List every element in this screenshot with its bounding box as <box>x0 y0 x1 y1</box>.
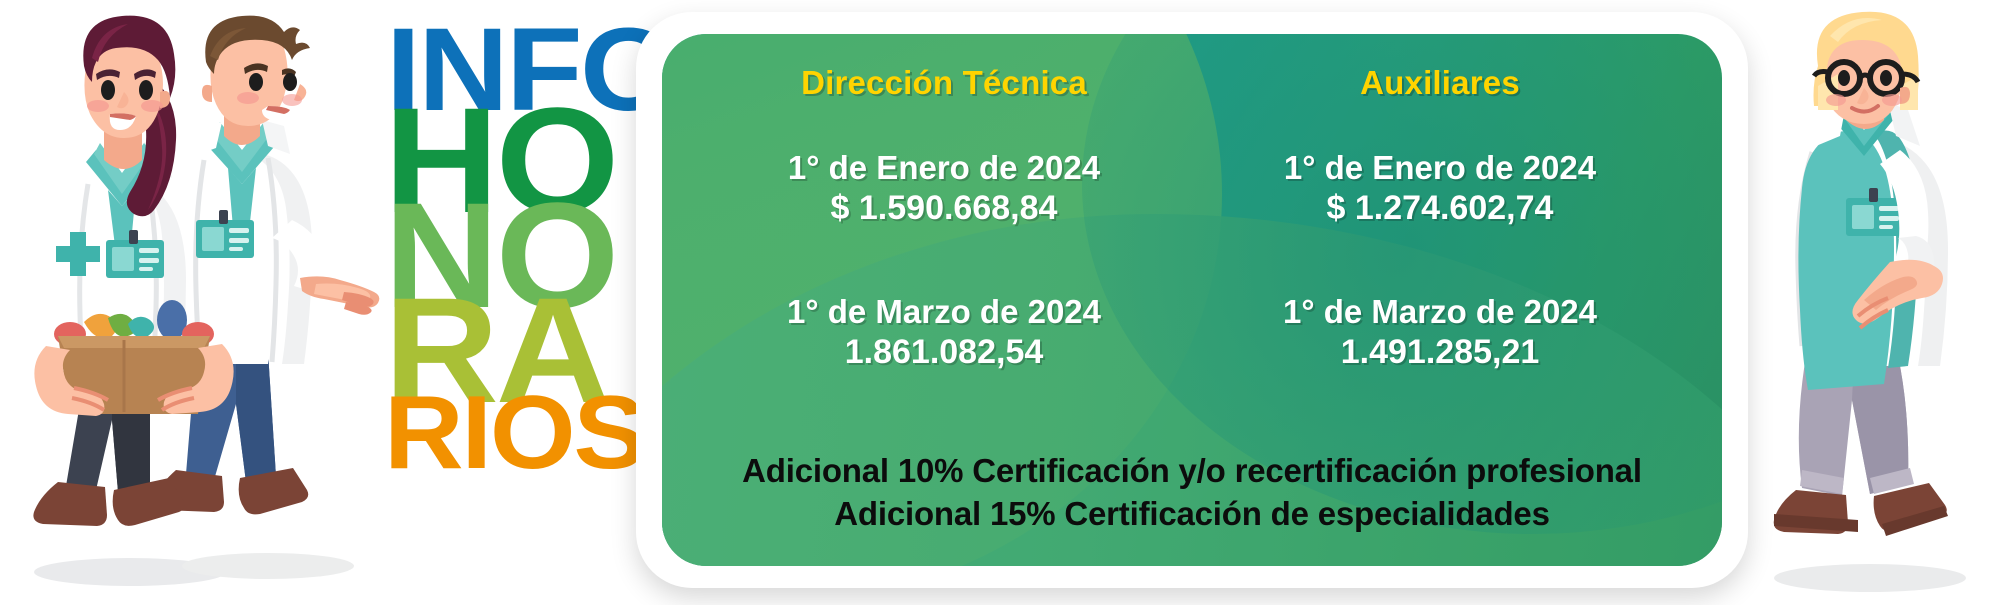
entry-dt-marzo: 1° de Marzo de 2024 1.861.082,54 <box>787 292 1101 374</box>
info-honorarios-banner: INFO HO NO RA RIOS Dirección Técnica 1° … <box>0 0 2000 600</box>
info-honorarios-wordmark: INFO HO NO RA RIOS <box>384 24 630 570</box>
fees-card-shell: Dirección Técnica 1° de Enero de 2024 $ … <box>636 12 1748 588</box>
right-pharmacist-illustration <box>1740 0 2000 600</box>
column-title-auxiliares: Auxiliares <box>1360 64 1520 102</box>
entry-aux-enero: 1° de Enero de 2024 $ 1.274.602,74 <box>1284 148 1596 230</box>
left-pharmacists-illustration <box>0 0 380 600</box>
entry-amount: 1.491.285,21 <box>1283 332 1597 373</box>
footnote-certificacion-10: Adicional 10% Certificación y/o recertif… <box>696 450 1688 493</box>
entry-date: 1° de Enero de 2024 <box>788 148 1100 188</box>
entry-date: 1° de Enero de 2024 <box>1284 148 1596 188</box>
entry-amount: $ 1.274.602,74 <box>1284 188 1596 229</box>
wordmark-line-5: RIOS <box>384 393 645 474</box>
entry-aux-marzo: 1° de Marzo de 2024 1.491.285,21 <box>1283 292 1597 374</box>
column-direccion-tecnica: Dirección Técnica 1° de Enero de 2024 $ … <box>696 60 1192 446</box>
fees-card: Dirección Técnica 1° de Enero de 2024 $ … <box>662 34 1722 566</box>
entry-dt-enero: 1° de Enero de 2024 $ 1.590.668,84 <box>788 148 1100 230</box>
column-auxiliares: Auxiliares 1° de Enero de 2024 $ 1.274.6… <box>1192 60 1688 446</box>
entry-amount: 1.861.082,54 <box>787 332 1101 373</box>
fees-columns: Dirección Técnica 1° de Enero de 2024 $ … <box>696 60 1688 446</box>
card-footnotes: Adicional 10% Certificación y/o recertif… <box>696 450 1688 536</box>
footnote-certificacion-15: Adicional 15% Certificación de especiali… <box>696 493 1688 536</box>
column-title-direccion-tecnica: Dirección Técnica <box>801 64 1087 102</box>
entry-date: 1° de Marzo de 2024 <box>1283 292 1597 332</box>
entry-date: 1° de Marzo de 2024 <box>787 292 1101 332</box>
entry-amount: $ 1.590.668,84 <box>788 188 1100 229</box>
